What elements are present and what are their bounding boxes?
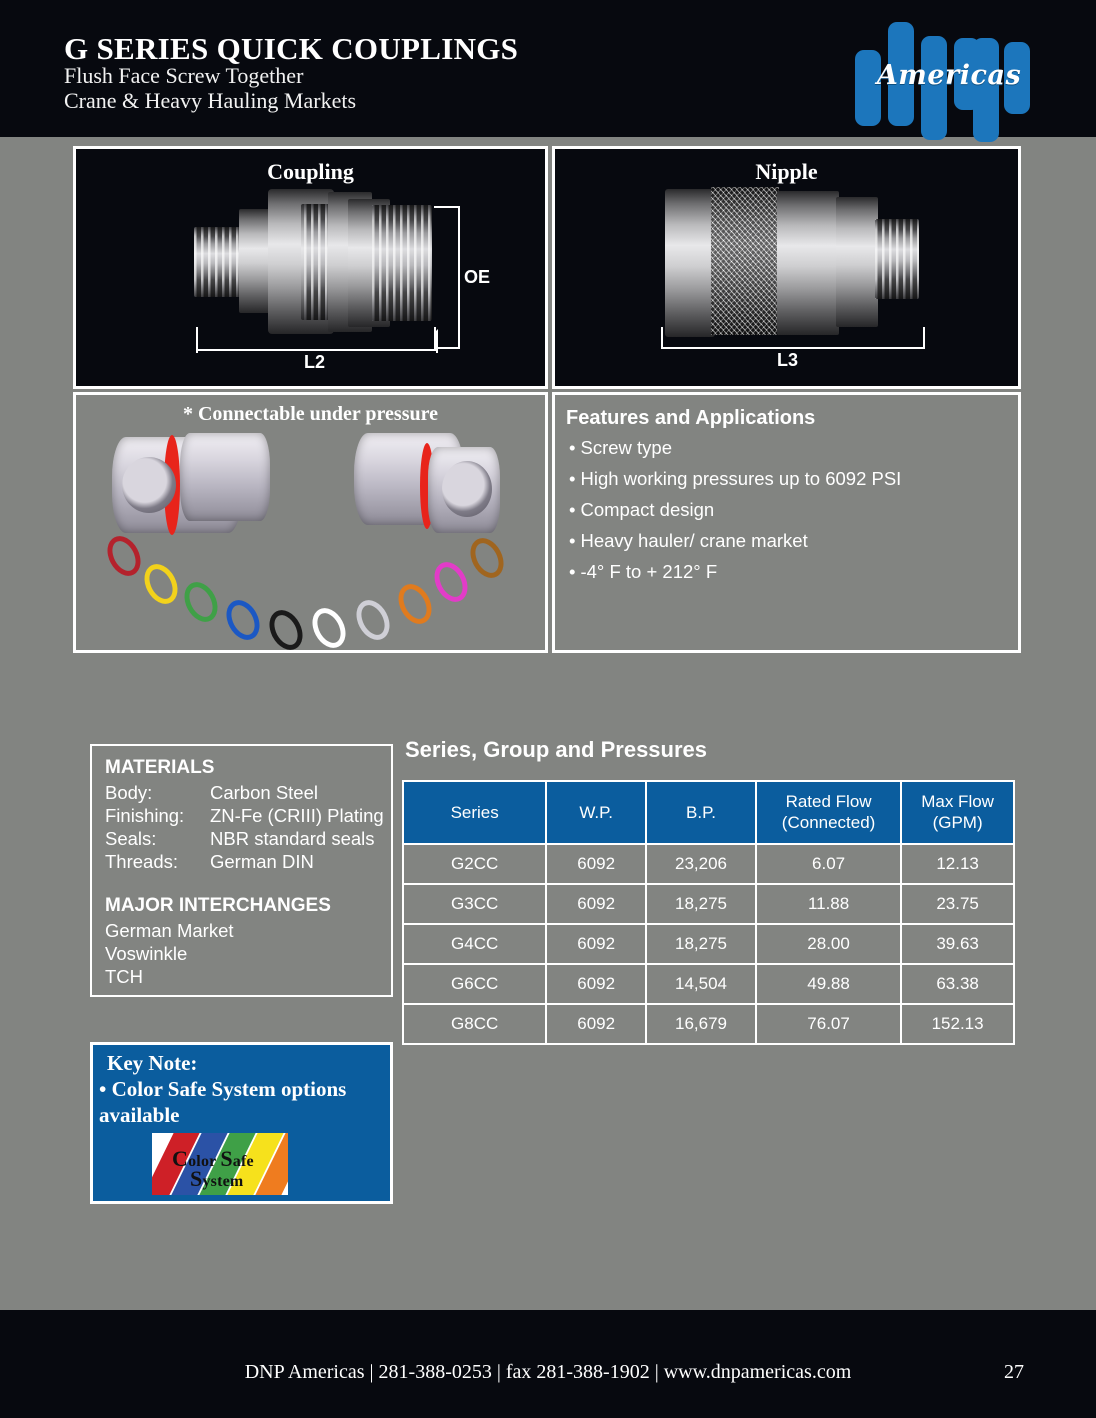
coupling-panel-title: Coupling bbox=[76, 159, 545, 185]
cell-series: G3CC bbox=[404, 885, 545, 923]
cell-rated-flow: 76.07 bbox=[757, 1005, 900, 1043]
footer-contact-text: DNP Americas | 281-388-0253 | fax 281-38… bbox=[0, 1361, 1096, 1384]
feature-label: Compact design bbox=[580, 499, 714, 520]
interchange-item: German Market bbox=[105, 920, 234, 942]
materials-key: Threads: bbox=[105, 851, 210, 873]
color-ring bbox=[464, 532, 510, 583]
materials-value: Carbon Steel bbox=[210, 782, 318, 803]
nipple-image-panel: Nipple L3 bbox=[552, 146, 1021, 389]
color-ring bbox=[178, 576, 224, 627]
cell-max-flow: 63.38 bbox=[902, 965, 1013, 1003]
table-row: G8CC 6092 16,679 76.07 152.13 bbox=[404, 1005, 1013, 1043]
css-s2: S bbox=[190, 1166, 202, 1191]
column-header-rated-flow: Rated Flow(Connected) bbox=[757, 782, 900, 843]
cell-wp: 6092 bbox=[547, 845, 645, 883]
page-subtitle-2: Crane & Heavy Hauling Markets bbox=[64, 88, 356, 114]
color-ring bbox=[101, 530, 147, 581]
dnp-americas-logo: Americas bbox=[855, 12, 1030, 132]
materials-key: Seals: bbox=[105, 828, 210, 850]
page-number: 27 bbox=[1004, 1361, 1024, 1384]
cell-max-flow: 152.13 bbox=[902, 1005, 1013, 1043]
color-ring bbox=[306, 602, 352, 653]
l3-label: L3 bbox=[777, 350, 798, 371]
pressure-panel-title: * Connectable under pressure bbox=[76, 403, 545, 426]
materials-value: NBR standard seals bbox=[210, 828, 375, 849]
cell-series: G6CC bbox=[404, 965, 545, 1003]
cell-max-flow: 23.75 bbox=[902, 885, 1013, 923]
materials-value: ZN-Fe (CRIII) Plating bbox=[210, 805, 384, 826]
materials-heading: MATERIALS bbox=[105, 757, 214, 779]
cell-bp: 14,504 bbox=[647, 965, 755, 1003]
page-title: G SERIES QUICK COUPLINGS bbox=[64, 31, 518, 67]
feature-label: -4° F to + 212° F bbox=[580, 561, 717, 582]
features-panel: Features and Applications •Screw type •H… bbox=[552, 392, 1021, 653]
nipple-panel-title: Nipple bbox=[555, 159, 1018, 185]
cell-bp: 18,275 bbox=[647, 925, 755, 963]
cell-rated-flow: 28.00 bbox=[757, 925, 900, 963]
cell-bp: 16,679 bbox=[647, 1005, 755, 1043]
series-group-pressures-table: Series W.P. B.P. Rated Flow(Connected) M… bbox=[402, 780, 1015, 1045]
materials-key: Finishing: bbox=[105, 805, 210, 827]
cell-max-flow: 39.63 bbox=[902, 925, 1013, 963]
cell-wp: 6092 bbox=[547, 965, 645, 1003]
table-row: G3CC 6092 18,275 11.88 23.75 bbox=[404, 885, 1013, 923]
cell-max-flow: 12.13 bbox=[902, 845, 1013, 883]
column-header-max-flow: Max Flow(GPM) bbox=[902, 782, 1013, 843]
features-title: Features and Applications bbox=[566, 407, 815, 430]
table-row: G6CC 6092 14,504 49.88 63.38 bbox=[404, 965, 1013, 1003]
feature-item: •-4° F to + 212° F bbox=[569, 561, 901, 583]
color-ring bbox=[392, 578, 438, 629]
coupling-image-panel: Coupling L2 OE bbox=[73, 146, 548, 389]
color-ring bbox=[428, 556, 474, 607]
materials-row: Threads:German DIN bbox=[105, 851, 314, 873]
feature-label: Heavy hauler/ crane market bbox=[580, 530, 807, 551]
color-safe-system-wordmark: Color Safe System bbox=[152, 1133, 288, 1195]
cell-rated-flow: 6.07 bbox=[757, 845, 900, 883]
cell-series: G2CC bbox=[404, 845, 545, 883]
feature-item: •Compact design bbox=[569, 499, 901, 521]
interchanges-heading: MAJOR INTERCHANGES bbox=[105, 895, 331, 917]
materials-key: Body: bbox=[105, 782, 210, 804]
column-header-series: Series bbox=[404, 782, 545, 843]
interchange-item: TCH bbox=[105, 966, 143, 988]
materials-row: Seals:NBR standard seals bbox=[105, 828, 375, 850]
materials-value: German DIN bbox=[210, 851, 314, 872]
color-ring bbox=[263, 604, 309, 655]
feature-item: •Screw type bbox=[569, 437, 901, 459]
color-ring bbox=[220, 594, 266, 645]
feature-item: •Heavy hauler/ crane market bbox=[569, 530, 901, 552]
cell-rated-flow: 11.88 bbox=[757, 885, 900, 923]
table-row: G2CC 6092 23,206 6.07 12.13 bbox=[404, 845, 1013, 883]
cell-series: G8CC bbox=[404, 1005, 545, 1043]
feature-label: High working pressures up to 6092 PSI bbox=[580, 468, 901, 489]
css-c: C bbox=[172, 1146, 188, 1171]
l2-label: L2 bbox=[304, 352, 325, 373]
cell-bp: 23,206 bbox=[647, 845, 755, 883]
table-row: G4CC 6092 18,275 28.00 39.63 bbox=[404, 925, 1013, 963]
column-header-bp: B.P. bbox=[647, 782, 755, 843]
key-note-text: • Color Safe System options available bbox=[99, 1077, 389, 1128]
table-header-row: Series W.P. B.P. Rated Flow(Connected) M… bbox=[404, 782, 1013, 843]
css-ystem: ystem bbox=[202, 1173, 243, 1190]
logo-script-text: Americas bbox=[869, 60, 1029, 91]
color-ring bbox=[138, 558, 184, 609]
interchange-item: Voswinkle bbox=[105, 943, 187, 965]
feature-label: Screw type bbox=[580, 437, 672, 458]
feature-item: •High working pressures up to 6092 PSI bbox=[569, 468, 901, 490]
page-subtitle-1: Flush Face Screw Together bbox=[64, 63, 303, 89]
materials-box: MATERIALS Body:Carbon Steel Finishing:ZN… bbox=[90, 744, 393, 997]
cell-bp: 18,275 bbox=[647, 885, 755, 923]
materials-row: Body:Carbon Steel bbox=[105, 782, 318, 804]
cell-series: G4CC bbox=[404, 925, 545, 963]
cell-wp: 6092 bbox=[547, 885, 645, 923]
column-header-wp: W.P. bbox=[547, 782, 645, 843]
cell-wp: 6092 bbox=[547, 925, 645, 963]
series-table-title: Series, Group and Pressures bbox=[405, 737, 707, 763]
key-note-title: Key Note: bbox=[107, 1051, 197, 1076]
materials-row: Finishing:ZN-Fe (CRIII) Plating bbox=[105, 805, 384, 827]
color-ring bbox=[350, 594, 396, 645]
cell-rated-flow: 49.88 bbox=[757, 965, 900, 1003]
features-list: •Screw type •High working pressures up t… bbox=[569, 437, 901, 592]
connectable-under-pressure-panel: * Connectable under pressure bbox=[73, 392, 548, 653]
oe-label: OE bbox=[464, 267, 490, 288]
color-safe-system-logo: Color Safe System bbox=[152, 1133, 288, 1195]
cell-wp: 6092 bbox=[547, 1005, 645, 1043]
